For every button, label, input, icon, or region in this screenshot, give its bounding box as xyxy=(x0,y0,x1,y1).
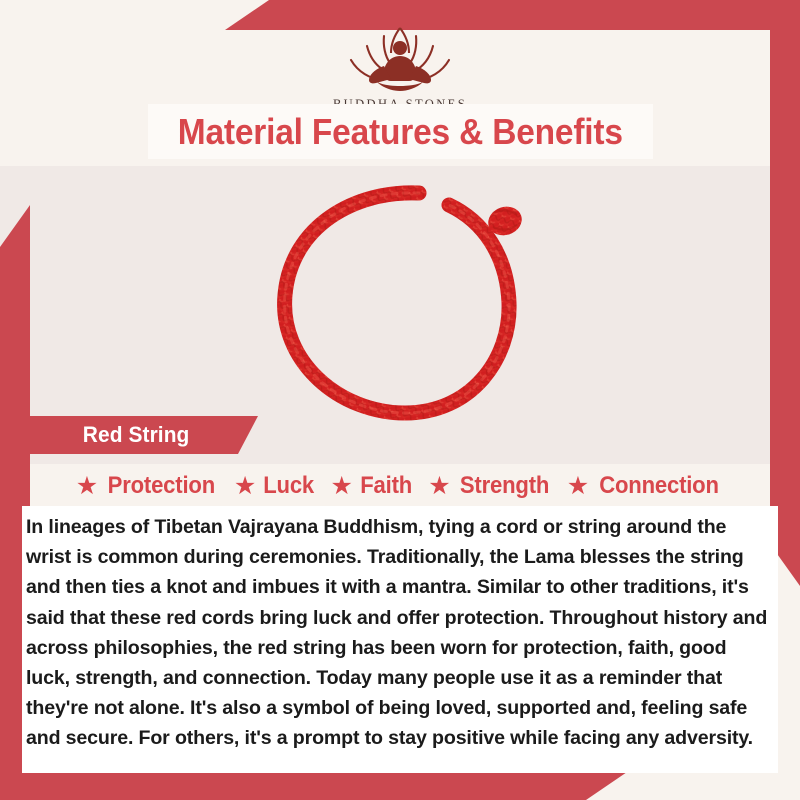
material-ribbon: Red String xyxy=(22,416,258,454)
benefits-row: ★ Protection ★ Luck ★ Faith ★ Strength ★… xyxy=(0,467,800,505)
benefit-item-faith: ★ Faith xyxy=(325,472,421,500)
star-icon: ★ xyxy=(428,474,450,499)
benefit-label: Connection xyxy=(599,472,719,500)
page-title: Material Features & Benefits xyxy=(178,111,623,153)
red-string-bracelet-illustration xyxy=(243,163,563,453)
benefit-label: Faith xyxy=(360,472,412,500)
star-icon: ★ xyxy=(234,474,256,499)
material-features-infographic: BUDDHA STONES Material Features & Benefi… xyxy=(0,0,800,800)
description-text: In lineages of Tibetan Vajrayana Buddhis… xyxy=(26,512,774,754)
benefit-label: Protection xyxy=(108,472,215,500)
benefit-item-protection: ★ Protection xyxy=(70,472,226,500)
star-icon: ★ xyxy=(567,474,589,499)
lotus-meditation-icon xyxy=(325,22,475,94)
star-icon: ★ xyxy=(331,474,353,499)
benefit-label: Luck xyxy=(264,472,315,500)
brand-logo: BUDDHA STONES xyxy=(0,22,800,112)
decorative-bottom-red-bar xyxy=(0,770,630,800)
benefit-item-strength: ★ Strength xyxy=(422,472,558,500)
benefit-item-connection: ★ Connection xyxy=(561,472,730,500)
headline-plate: Material Features & Benefits xyxy=(148,104,653,159)
star-icon: ★ xyxy=(76,474,98,499)
benefit-label: Strength xyxy=(460,472,549,500)
benefit-item-luck: ★ Luck xyxy=(228,472,323,500)
material-name: Red String xyxy=(83,422,190,448)
